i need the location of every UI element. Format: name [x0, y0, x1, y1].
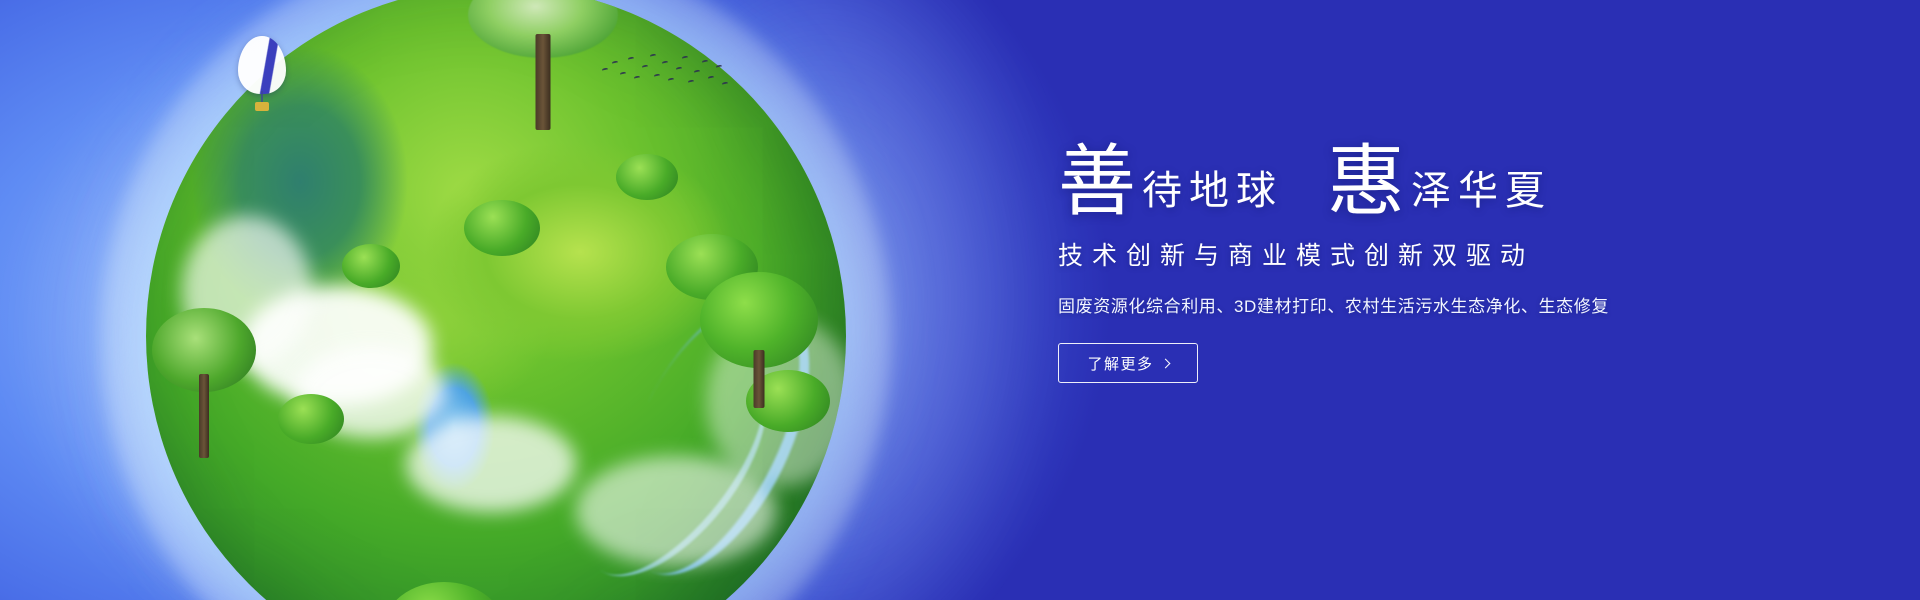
bird-icon [722, 81, 728, 85]
bird-icon [682, 55, 688, 59]
headline-char-shan: 善 [1058, 146, 1136, 218]
bird-icon [634, 75, 640, 79]
bird-icon [688, 79, 694, 83]
surface-cloud-3 [406, 416, 576, 512]
tree-trunk [754, 350, 765, 408]
balloon-basket [255, 102, 269, 111]
bird-icon [708, 75, 714, 79]
bird-icon [694, 69, 700, 73]
bird-icon [662, 60, 668, 64]
hero-subtitle: 技术创新与商业模式创新双驱动 [1058, 236, 1818, 272]
bird-icon [612, 60, 618, 64]
bird-icon [650, 53, 656, 57]
bird-icon [628, 56, 634, 60]
hero-banner: 善 待地球 惠 泽华夏 技术创新与商业模式创新双驱动 固废资源化综合利用、3D建… [0, 0, 1920, 600]
hot-air-balloon-icon [238, 36, 286, 114]
tree-icon [384, 582, 504, 600]
page-title: 善 待地球 惠 泽华夏 [1058, 126, 1818, 218]
bird-icon [702, 59, 708, 63]
chevron-right-icon [1160, 358, 1170, 368]
bird-icon [642, 64, 648, 68]
bird-icon [716, 64, 722, 68]
balloon-envelope [238, 36, 286, 94]
learn-more-button[interactable]: 了解更多 [1058, 343, 1198, 383]
bush-icon [616, 154, 678, 200]
tree-crown [384, 582, 504, 600]
learn-more-label: 了解更多 [1087, 353, 1153, 374]
bird-icon [654, 73, 660, 77]
tree-trunk [199, 374, 209, 458]
hero-description: 固废资源化综合利用、3D建材打印、农村生活污水生态净化、生态修复 [1058, 292, 1818, 317]
birds-flock-icon [598, 52, 728, 92]
tree-icon [468, 0, 618, 122]
bird-icon [620, 71, 626, 75]
headline-char-hui: 惠 [1327, 146, 1405, 218]
bird-icon [602, 67, 608, 71]
headline-text-daidiqiu: 待地球 [1136, 171, 1283, 218]
bush-icon [464, 200, 540, 256]
tree-icon [700, 272, 818, 402]
tree-icon [152, 308, 256, 458]
bush-icon [278, 394, 344, 444]
bird-icon [676, 66, 682, 70]
bush-icon [342, 244, 400, 288]
hero-copy: 善 待地球 惠 泽华夏 技术创新与商业模式创新双驱动 固废资源化综合利用、3D建… [1058, 126, 1818, 383]
tree-trunk [536, 34, 551, 130]
headline-text-zehuaxia: 泽华夏 [1405, 171, 1552, 218]
bird-icon [668, 77, 674, 81]
